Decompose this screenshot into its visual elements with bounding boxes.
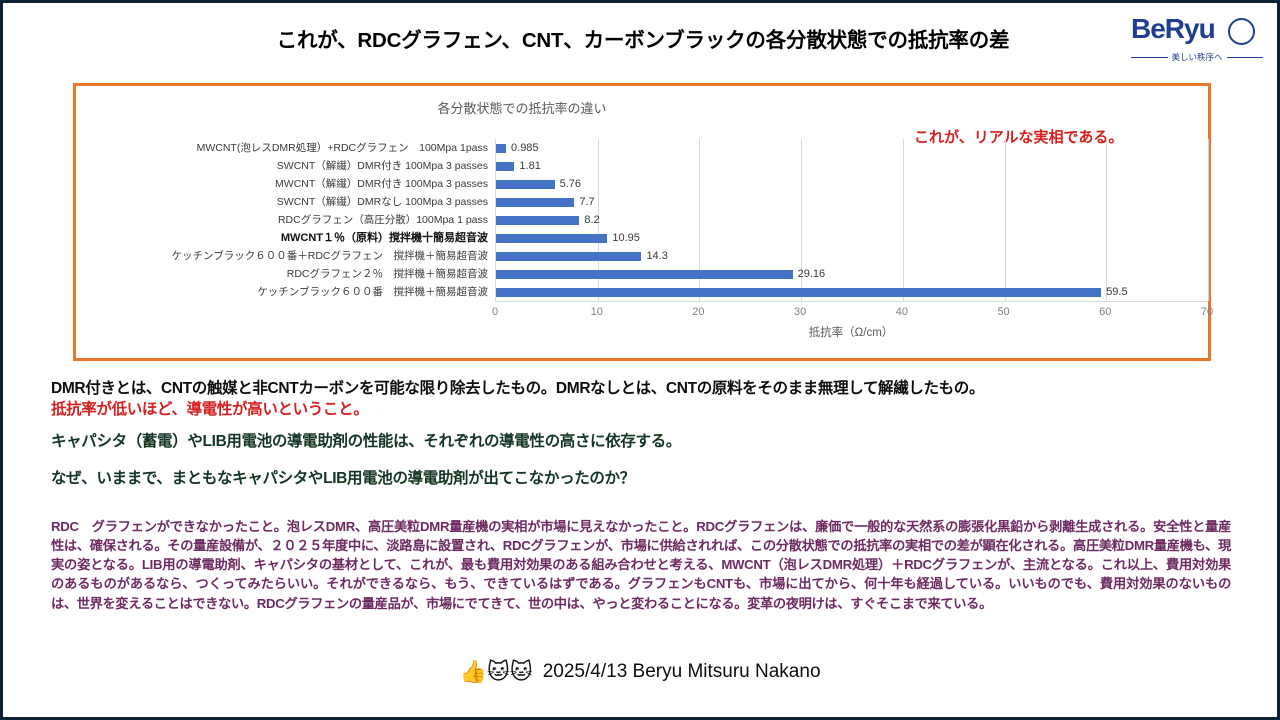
slide-header: これが、RDCグラフェン、CNT、カーボンブラックの各分散状態での抵抗率の差 B…	[3, 3, 1277, 75]
chart-container: 各分散状態での抵抗率の違い これが、リアルな実相である。 MWCNT(泡レスDM…	[73, 83, 1211, 361]
bar-series: 0.9851.815.767.78.210.9514.329.1659.5	[496, 139, 1207, 301]
bar-row: 14.3	[496, 247, 1207, 265]
note-line-1: DMR付きとは、CNTの触媒と非CNTカーボンを可能な限り除去したもの。DMRな…	[51, 379, 1231, 400]
category-label: MWCNT（解繊）DMR付き 100Mpa 3 passes	[76, 175, 494, 193]
bar-value-label: 10.95	[612, 232, 640, 244]
footer-icons: 👍🐱🐱	[459, 661, 532, 683]
value-axis-tick: 0	[492, 306, 498, 318]
category-label: RDCグラフェン（高圧分散）100Mpa 1 pass	[76, 211, 494, 229]
bar-row: 0.985	[496, 139, 1207, 157]
bar-row: 59.5	[496, 283, 1207, 301]
bar-row: 1.81	[496, 157, 1207, 175]
footer-credit: 2025/4/13 Beryu Mitsuru Nakano	[543, 661, 821, 683]
category-label: RDCグラフェン２％ 撹拌機＋簡易超音波	[76, 265, 494, 283]
bar	[496, 216, 579, 225]
category-axis-labels: MWCNT(泡レスDMR処理）+RDCグラフェン 100Mpa 1passSWC…	[76, 139, 494, 301]
value-axis-tick: 10	[591, 306, 603, 318]
bar-value-label: 1.81	[519, 160, 540, 172]
chart-title: 各分散状態での抵抗率の違い	[0, 98, 1088, 117]
slide-canvas: これが、RDCグラフェン、CNT、カーボンブラックの各分散状態での抵抗率の差 B…	[0, 0, 1280, 720]
value-axis-tick: 50	[997, 306, 1009, 318]
bar	[496, 144, 506, 153]
category-label: MWCNT１％（原料）撹拌機十簡易超音波	[76, 229, 494, 247]
beryu-logo: BeRyu 美しい秩序へ	[1131, 11, 1263, 71]
bar-value-label: 59.5	[1106, 286, 1127, 298]
bar-row: 5.76	[496, 175, 1207, 193]
note-line-3: キャパシタ（蓄電）やLIB用電池の導電助剤の性能は、それぞれの導電性の高さに依存…	[51, 432, 1231, 453]
bar-value-label: 5.76	[560, 178, 581, 190]
logo-circle-icon	[1228, 18, 1255, 45]
bar-row: 29.16	[496, 265, 1207, 283]
logo-tagline: 美しい秩序へ	[1172, 51, 1223, 63]
bar	[496, 270, 793, 279]
bar-row: 10.95	[496, 229, 1207, 247]
value-axis-tick: 70	[1201, 306, 1213, 318]
gridline	[1208, 139, 1209, 301]
bar-row: 8.2	[496, 211, 1207, 229]
logo-rule-left	[1131, 57, 1168, 58]
bar	[496, 234, 607, 243]
value-axis: 010203040506070	[495, 301, 1207, 321]
note-line-2: 抵抗率が低いほど、導電性が高いということ。	[51, 400, 1231, 421]
bar	[496, 198, 574, 207]
note-line-4: なぜ、いままで、まともなキャパシタやLIB用電池の導電助剤が出てこなかったのか？	[51, 469, 1231, 490]
body-paragraph: RDC グラフェンができなかったこと。泡レスDMR、高圧美粒DMR量産機の実相が…	[51, 517, 1231, 613]
value-axis-title: 抵抗率（Ω/cm）	[495, 324, 1207, 340]
value-axis-tick: 60	[1099, 306, 1111, 318]
notes-block: DMR付きとは、CNTの触媒と非CNTカーボンを可能な限り除去したもの。DMRな…	[51, 379, 1231, 490]
bar-value-label: 29.16	[798, 268, 826, 280]
logo-rule-right	[1227, 57, 1264, 58]
category-label: MWCNT(泡レスDMR処理）+RDCグラフェン 100Mpa 1pass	[76, 139, 494, 157]
chart-body: MWCNT(泡レスDMR処理）+RDCグラフェン 100Mpa 1passSWC…	[76, 136, 1208, 358]
logo-tagline-row: 美しい秩序へ	[1131, 51, 1263, 63]
bar-value-label: 14.3	[646, 250, 667, 262]
bar-value-label: 7.7	[579, 196, 594, 208]
logo-wordmark: BeRyu	[1131, 13, 1215, 45]
bar-value-label: 0.985	[511, 142, 539, 154]
bar	[496, 288, 1101, 297]
slide-footer: 👍🐱🐱 2025/4/13 Beryu Mitsuru Nakano	[3, 661, 1277, 683]
bar-value-label: 8.2	[584, 214, 599, 226]
bar-row: 7.7	[496, 193, 1207, 211]
value-axis-tick: 20	[692, 306, 704, 318]
category-label: ケッチンブラック６００番 撹拌機＋簡易超音波	[76, 283, 494, 301]
bar	[496, 162, 514, 171]
category-label: ケッチンブラック６００番＋RDCグラフェン 撹拌機＋簡易超音波	[76, 247, 494, 265]
plot-area: 0.9851.815.767.78.210.9514.329.1659.5	[495, 139, 1207, 301]
category-label: SWCNT（解繊）DMRなし 100Mpa 3 passes	[76, 193, 494, 211]
value-axis-tick: 30	[794, 306, 806, 318]
bar	[496, 252, 641, 261]
category-label: SWCNT（解繊）DMR付き 100Mpa 3 passes	[76, 157, 494, 175]
value-axis-tick: 40	[896, 306, 908, 318]
page-title: これが、RDCグラフェン、CNT、カーボンブラックの各分散状態での抵抗率の差	[203, 23, 1083, 53]
bar	[496, 180, 555, 189]
